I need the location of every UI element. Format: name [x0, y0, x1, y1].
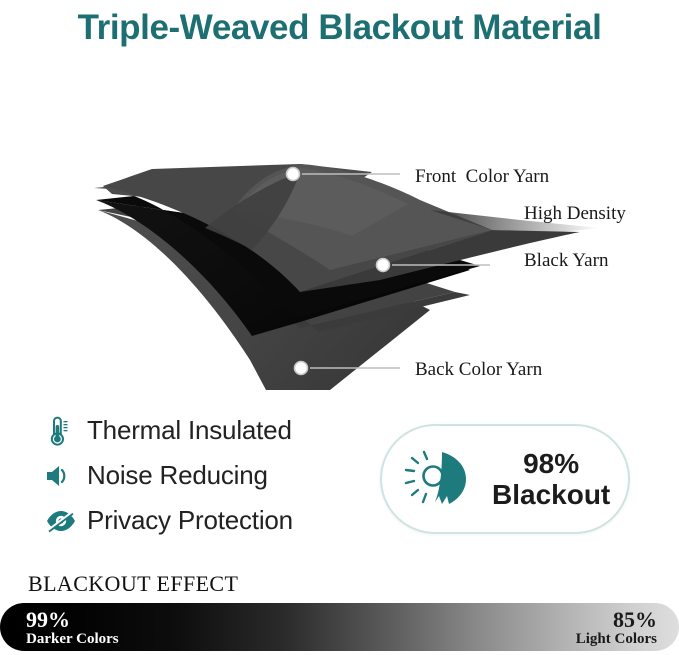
leader-dot-middle	[377, 259, 390, 272]
feature-privacy-protection: Privacy Protection	[45, 498, 365, 543]
darker-colors-label: Darker Colors	[26, 631, 119, 648]
blackout-badge: 98% Blackout	[380, 424, 630, 534]
light-colors-percent: 85%	[576, 608, 657, 631]
blackout-effect-darker: 99% Darker Colors	[26, 608, 119, 648]
speaker-icon	[45, 457, 87, 495]
blackout-effect-heading: BLACKOUT EFFECT	[28, 571, 238, 597]
features-list: Thermal Insulated Noise Reducing Privacy…	[45, 408, 365, 543]
label-high-density-line1: High Density	[524, 203, 626, 224]
fabric-layers-diagram: Front Color Yarn High Density Black Yarn…	[0, 60, 679, 390]
page-title: Triple-Weaved Blackout Material	[0, 0, 679, 56]
leader-dot-back	[295, 362, 308, 375]
feature-label-thermal-insulated: Thermal Insulated	[87, 415, 292, 446]
blackout-effect-light: 85% Light Colors	[576, 608, 657, 648]
leader-dot-front	[287, 168, 300, 181]
darker-colors-percent: 99%	[26, 608, 119, 631]
feature-thermal-insulated: Thermal Insulated	[45, 408, 365, 453]
blackout-effect-gradient-bar: 99% Darker Colors 85% Light Colors	[0, 603, 679, 651]
sun-blocked-icon	[396, 439, 486, 519]
label-back-color-yarn: Back Color Yarn	[415, 358, 542, 382]
feature-label-privacy-protection: Privacy Protection	[87, 505, 293, 536]
blackout-badge-text: 98% Blackout	[492, 448, 610, 511]
feature-noise-reducing: Noise Reducing	[45, 453, 365, 498]
thermometer-icon	[45, 412, 87, 450]
blackout-percent: 98%	[523, 448, 579, 479]
light-colors-label: Light Colors	[576, 631, 657, 648]
blackout-label: Blackout	[492, 479, 610, 510]
label-high-density-line2: Black Yarn	[524, 250, 608, 271]
feature-label-noise-reducing: Noise Reducing	[87, 460, 268, 491]
label-high-density-black-yarn: High Density Black Yarn	[505, 178, 626, 297]
eye-off-icon	[45, 502, 87, 540]
